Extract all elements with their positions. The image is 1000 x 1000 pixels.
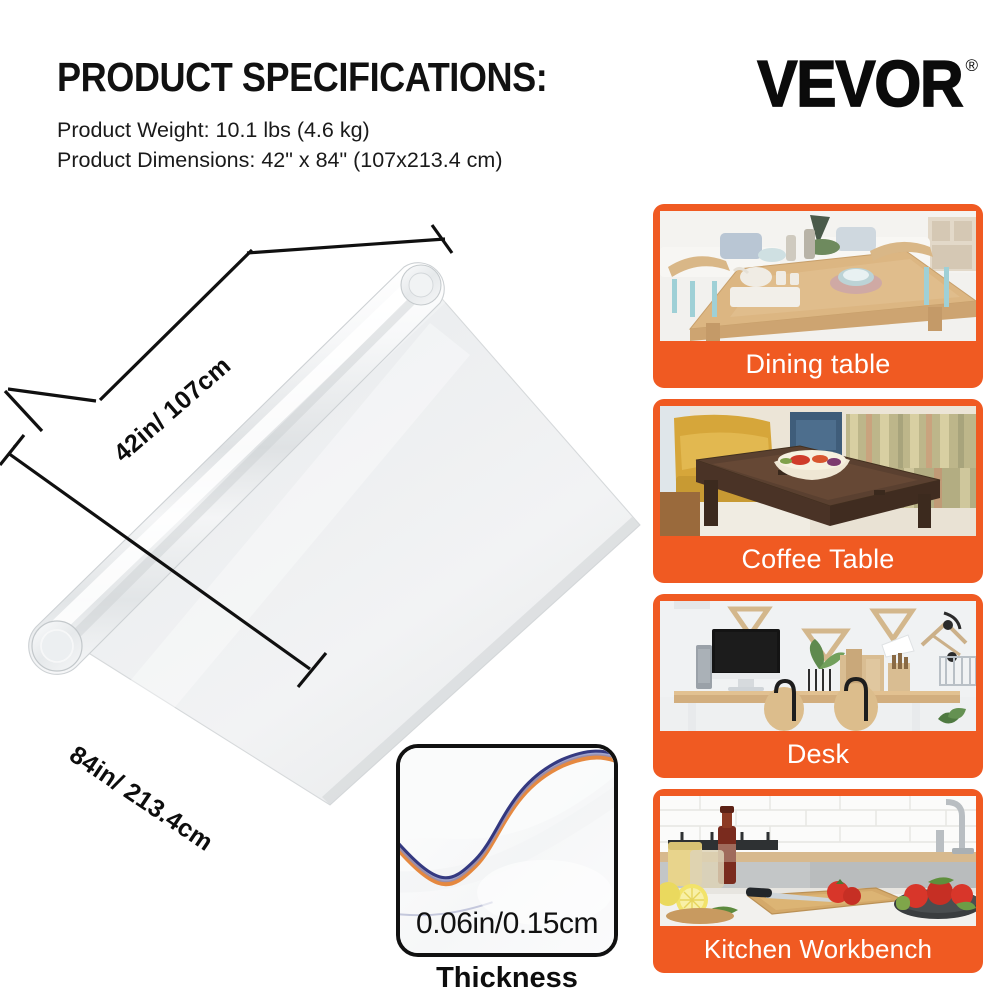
- scene-card-desk[interactable]: Desk: [653, 594, 983, 778]
- scene-label-coffee-table: Coffee Table: [660, 536, 976, 583]
- desk-photo: [660, 601, 976, 731]
- spec-weight: Product Weight: 10.1 lbs (4.6 kg): [57, 116, 617, 146]
- vevor-logo: VEVOR ®: [757, 52, 978, 112]
- page-title: PRODUCT SPECIFICATIONS:: [57, 56, 550, 99]
- spec-header: PRODUCT SPECIFICATIONS: Product Weight: …: [57, 56, 617, 175]
- thickness-value: 0.06in/0.15cm: [400, 907, 614, 941]
- scene-label-desk: Desk: [660, 731, 976, 778]
- scene-card-coffee-table[interactable]: Coffee Table: [653, 399, 983, 583]
- thickness-caption: Thickness: [396, 962, 618, 995]
- product-spec-page: PRODUCT SPECIFICATIONS: Product Weight: …: [0, 0, 1000, 1000]
- scene-label-kitchen-workbench: Kitchen Workbench: [660, 926, 976, 973]
- scene-card-kitchen-workbench[interactable]: Kitchen Workbench: [653, 789, 983, 973]
- thickness-callout: 0.06in/0.15cm: [396, 744, 618, 957]
- dining-table-photo: [660, 211, 976, 341]
- registered-trademark-icon: ®: [965, 56, 978, 76]
- spec-dimensions: Product Dimensions: 42" x 84" (107x213.4…: [57, 146, 617, 176]
- spec-list: Product Weight: 10.1 lbs (4.6 kg) Produc…: [57, 116, 617, 175]
- coffee-table-photo: [660, 406, 976, 536]
- use-case-cards: Dining table: [653, 204, 983, 984]
- kitchen-workbench-photo: [660, 796, 976, 926]
- scene-card-dining-table[interactable]: Dining table: [653, 204, 983, 388]
- dimension-corner-ticks: [5, 389, 96, 447]
- scene-label-dining-table: Dining table: [660, 341, 976, 388]
- logo-wordmark: VEVOR: [757, 52, 962, 117]
